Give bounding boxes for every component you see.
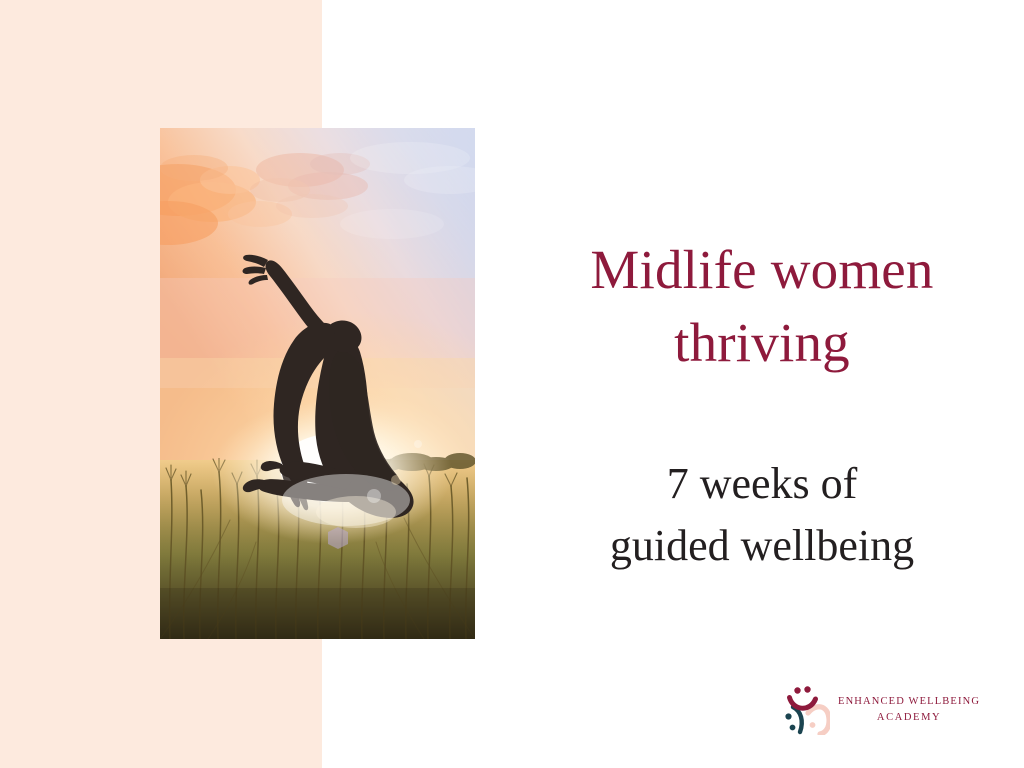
- text-column: Midlife women thriving 7 weeks of guided…: [500, 0, 1024, 768]
- three-figures-icon: [780, 683, 830, 735]
- subtitle: 7 weeks of guided wellbeing: [500, 453, 1024, 576]
- subtitle-line-2: guided wellbeing: [500, 515, 1024, 577]
- headline-line-1: Midlife women: [590, 239, 933, 300]
- brand-name: ENHANCED WELLBEING ACADEMY: [838, 692, 980, 727]
- subtitle-line-1: 7 weeks of: [667, 459, 858, 508]
- hero-photo: [160, 128, 475, 639]
- brand-name-line-2: ACADEMY: [838, 710, 980, 726]
- hero-photo-illustration: [160, 128, 475, 639]
- figure-right-blush: [808, 707, 829, 734]
- page-title: Midlife women thriving: [500, 233, 1024, 379]
- figure-left-navy: [785, 707, 801, 732]
- brand-name-line-1: ENHANCED WELLBEING: [838, 696, 980, 707]
- brand-logo: ENHANCED WELLBEING ACADEMY: [780, 678, 980, 740]
- figure-center-burgundy: [790, 686, 816, 708]
- headline-line-2: thriving: [500, 306, 1024, 379]
- promotional-slide: Midlife women thriving 7 weeks of guided…: [0, 0, 1024, 768]
